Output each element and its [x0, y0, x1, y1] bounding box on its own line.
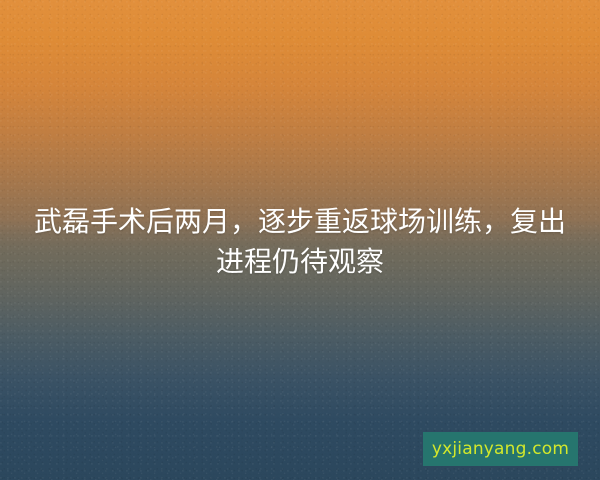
watermark-site-label: yxjianyang.com: [432, 439, 569, 459]
news-thumbnail-card: 武磊手术后两月，逐步重返球场训练，复出进程仍待观察 yxjianyang.com: [0, 0, 600, 480]
watermark-badge: yxjianyang.com: [423, 432, 578, 466]
headline-title: 武磊手术后两月，逐步重返球场训练，复出进程仍待观察: [30, 202, 570, 282]
